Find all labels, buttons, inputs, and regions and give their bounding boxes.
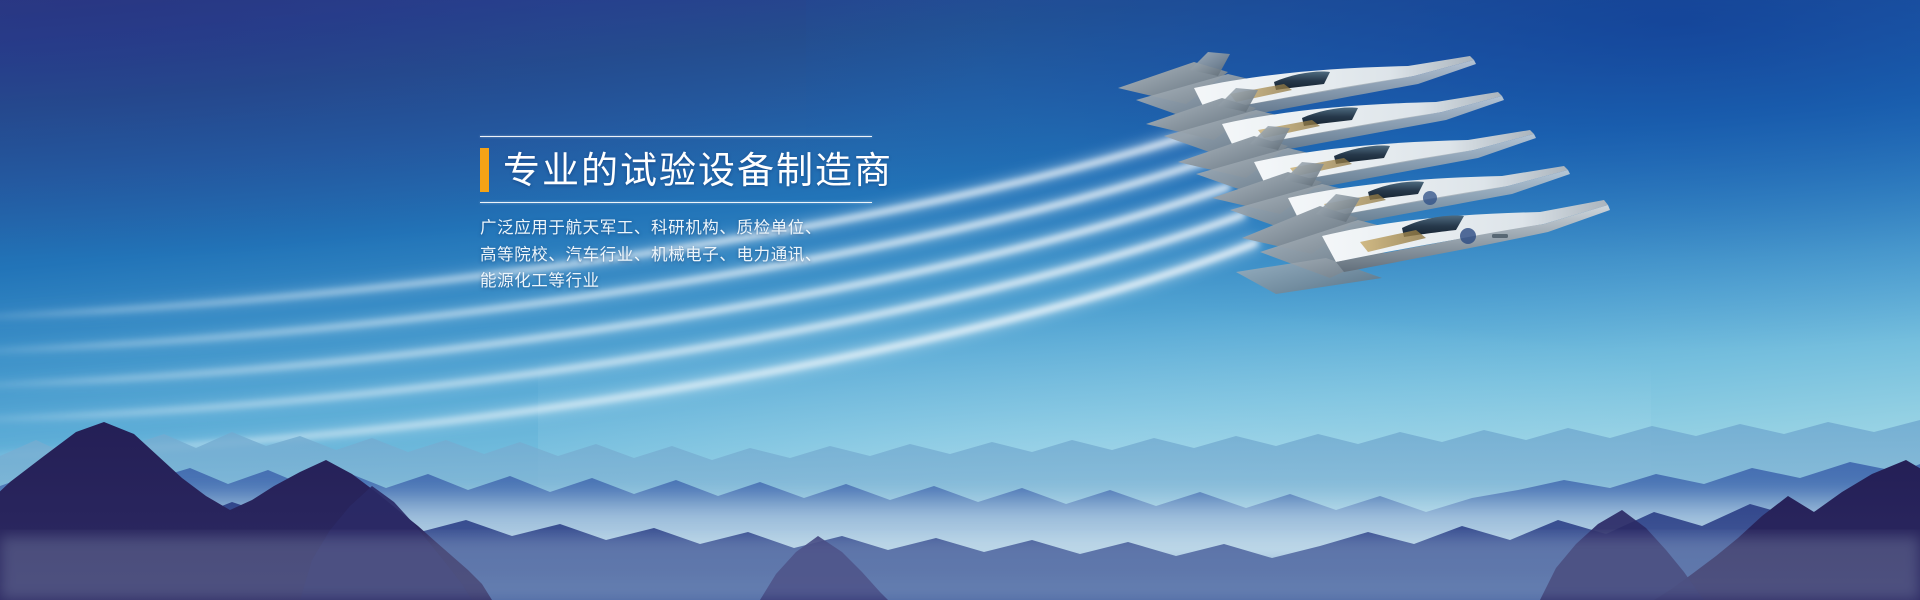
divider-bottom (480, 202, 872, 203)
banner-subtitle: 广泛应用于航天军工、科研机构、质检单位、 高等院校、汽车行业、机械电子、电力通讯… (480, 215, 900, 295)
accent-bar (480, 148, 489, 192)
page-title: 专业的试验设备制造商 (503, 152, 893, 189)
jet-formation (1130, 40, 1850, 300)
lower-haze (0, 536, 1920, 600)
banner-copy: 专业的试验设备制造商 广泛应用于航天军工、科研机构、质检单位、 高等院校、汽车行… (480, 136, 900, 295)
hero-banner: 专业的试验设备制造商 广泛应用于航天军工、科研机构、质检单位、 高等院校、汽车行… (0, 0, 1920, 600)
subtitle-line-3: 能源化工等行业 (480, 268, 900, 295)
subtitle-line-2: 高等院校、汽车行业、机械电子、电力通讯、 (480, 242, 900, 269)
divider-top (480, 136, 872, 137)
headline-row: 专业的试验设备制造商 (480, 148, 900, 192)
subtitle-line-1: 广泛应用于航天军工、科研机构、质检单位、 (480, 215, 900, 242)
mountain-range (0, 360, 1920, 600)
